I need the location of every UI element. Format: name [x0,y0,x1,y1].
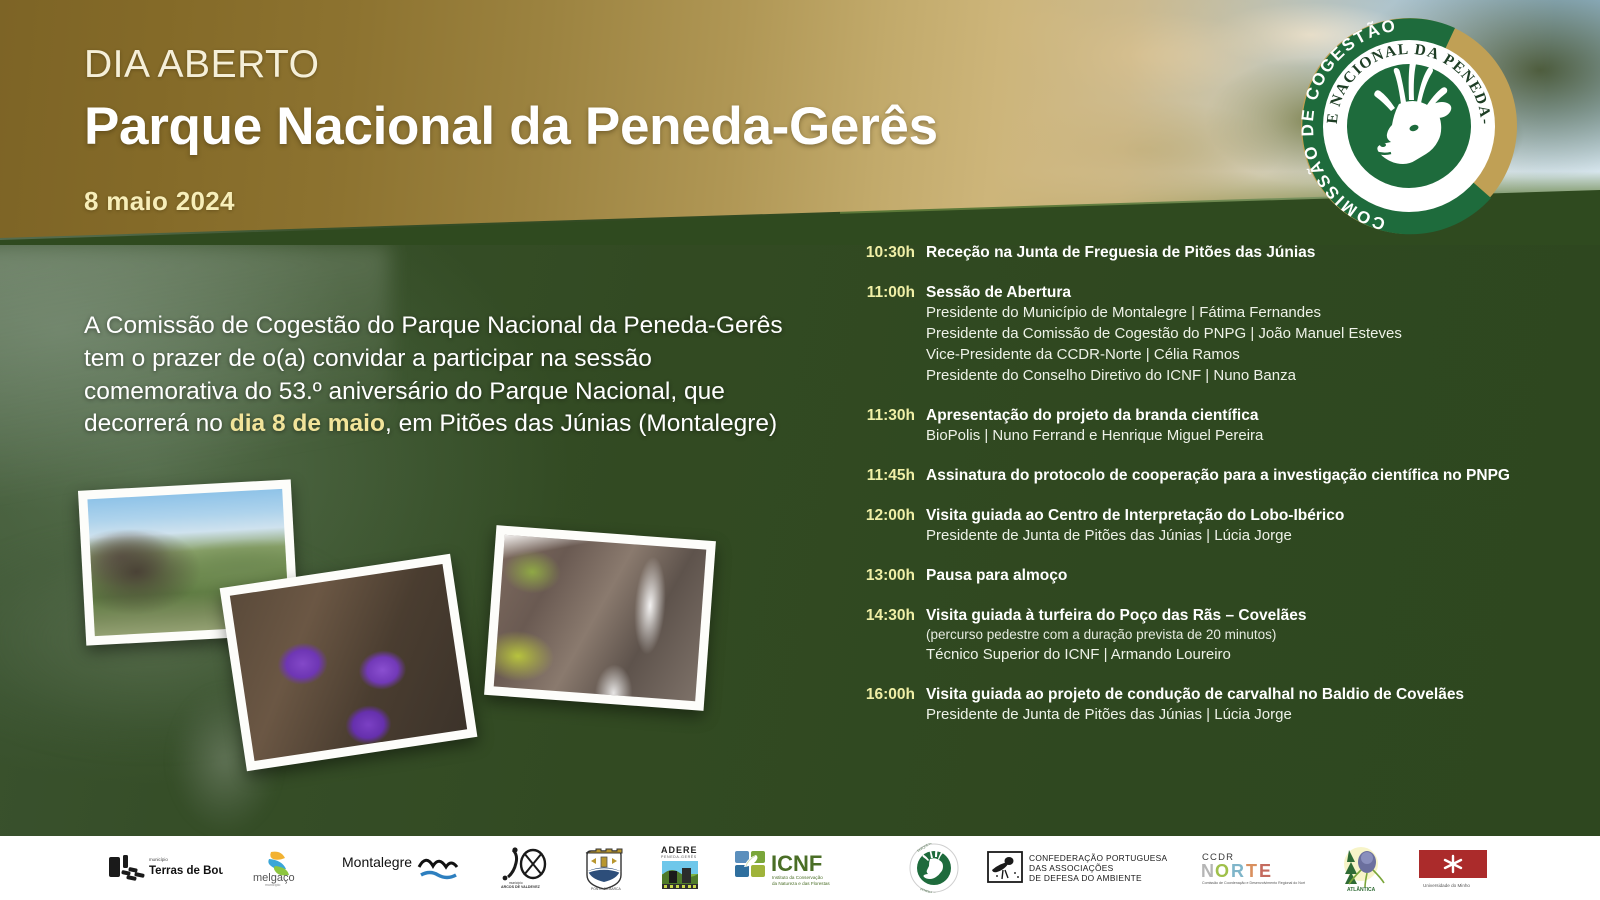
svg-text:Montalegre: Montalegre [342,854,412,870]
svg-text:PONTE DA BARCA: PONTE DA BARCA [591,887,622,891]
schedule-body: Visita guiada ao Centro de Interpretação… [915,506,1344,547]
schedule-time: 11:30h [855,406,915,447]
schedule-time: 16:00h [855,685,915,726]
invitation-paragraph: A Comissão de Cogestão do Parque Naciona… [84,310,784,441]
atlantica-mark: ATLÂNTICA [1331,844,1389,892]
ponte-da-barca-mark: PONTE DA BARCA [579,845,629,891]
logo-icnf: ICNF Instituto da Conservação da Naturez… [733,847,883,889]
poster-canvas: DIA ABERTO Parque Nacional da Peneda-Ger… [0,0,1600,900]
schedule-speaker: BioPolis | Nuno Ferrand e Henrique Migue… [926,426,1263,447]
svg-text:Comissão de Coordenação e Dese: Comissão de Coordenação e Desenvolviment… [1202,881,1305,885]
schedule-speaker: Presidente de Junta de Pitões das Júnias… [926,705,1464,726]
photo-waterfall [484,525,716,711]
svg-text:ATLÂNTICA: ATLÂNTICA [1347,886,1376,892]
svg-text:DAS ASSOCIAÇÕES: DAS ASSOCIAÇÕES [1029,863,1114,873]
schedule-title: Apresentação do projeto da branda cientí… [926,406,1263,427]
svg-text:ARCOS DE VALDEVEZ: ARCOS DE VALDEVEZ [501,885,541,889]
schedule-item: 12:00hVisita guiada ao Centro de Interpr… [855,506,1555,547]
schedule-title: Receção na Junta de Freguesia de Pitões … [926,243,1315,264]
schedule-speaker: Técnico Superior do ICNF | Armando Loure… [926,645,1306,666]
terras-de-bouro-mark: município Terras de Bouro [105,852,223,884]
svg-text:E: E [1259,861,1272,881]
schedule-title: Visita guiada ao projeto de condução de … [926,685,1464,706]
invite-date-highlight: dia 8 de maio [230,410,385,437]
logo-arcos-de-valdevez: município ARCOS DE VALDEVEZ [497,847,553,889]
svg-text:DE DEFESA DO AMBIENTE: DE DEFESA DO AMBIENTE [1029,873,1142,883]
partner-logo-bar: município Terras de Bouro melgaço municí… [0,836,1600,900]
schedule-item: 11:00hSessão de AberturaPresidente do Mu… [855,283,1555,387]
schedule-time: 11:00h [855,283,915,387]
photo-waterfall-image [494,535,707,701]
page-title: Parque Nacional da Peneda-Gerês [84,97,938,156]
svg-text:T: T [1246,861,1258,881]
confederacao-mark: CONFEDERAÇÃO PORTUGUESA DAS ASSOCIAÇÕES … [985,848,1173,888]
header-text-block: DIA ABERTO Parque Nacional da Peneda-Ger… [84,44,938,217]
schedule-title: Assinatura do protocolo de cooperação pa… [926,466,1510,487]
schedule-item: 13:00hPausa para almoço [855,566,1555,587]
schedule-item: 16:00hVisita guiada ao projeto de conduç… [855,685,1555,726]
melgaco-mark: melgaço município [249,849,315,887]
invite-line-3: comemorativa do 53.º aniversário do Parq… [84,376,784,409]
invite-line-4: decorrerá no dia 8 de maio, em Pitões da… [84,408,784,441]
schedule-title: Visita guiada ao Centro de Interpretação… [926,506,1344,527]
logo-adere-peneda-geres: ADERE PENEDA-GERÊS [655,844,707,892]
schedule-item: 10:30hReceção na Junta de Freguesia de P… [855,243,1555,264]
logo-ponte-da-barca: PONTE DA BARCA [579,845,629,891]
schedule-item: 11:45hAssinatura do protocolo de coopera… [855,466,1555,487]
invite-line4-post: , em Pitões das Júnias (Montalegre) [385,410,777,437]
logo-atlantica: ATLÂNTICA [1331,844,1389,892]
event-schedule: 10:30hReceção na Junta de Freguesia de P… [855,243,1555,745]
adere-mark: ADERE PENEDA-GERÊS [655,844,707,892]
svg-text:N: N [1201,861,1215,881]
svg-text:Universidade do Minho: Universidade do Minho [1423,883,1470,888]
schedule-speaker: Presidente do Conselho Diretivo do ICNF … [926,366,1402,387]
schedule-speaker: Presidente de Junta de Pitões das Júnias… [926,526,1344,547]
logo-ccdr-norte: CCDR N O R T E Comissão de Coordenação e… [1199,848,1305,888]
universidade-do-minho-mark: Universidade do Minho [1415,846,1495,890]
svg-text:PENEDA-GERÊS: PENEDA-GERÊS [661,854,697,859]
invite-line4-pre: decorrerá no [84,410,230,437]
logo-terras-de-bouro: município Terras de Bouro [105,852,223,884]
logo-melgaco: melgaço município [249,849,315,887]
schedule-body: Visita guiada à turfeira do Poço das Rãs… [915,606,1306,666]
icnf-mark: ICNF Instituto da Conservação da Naturez… [733,847,883,889]
svg-text:ICNF: ICNF [771,851,822,876]
logo-montalegre: Montalegre [341,851,471,885]
svg-text:município: município [265,883,280,887]
schedule-time: 11:45h [855,466,915,487]
schedule-title: Visita guiada à turfeira do Poço das Rãs… [926,606,1306,627]
schedule-body: Pausa para almoço [915,566,1067,587]
svg-text:O: O [1215,861,1230,881]
invite-line-2: tem o prazer de o(a) convidar a particip… [84,343,784,376]
svg-text:Instituto da Conservação: Instituto da Conservação [772,875,823,880]
schedule-item: 11:30hApresentação do projeto da branda … [855,406,1555,447]
schedule-body: Receção na Junta de Freguesia de Pitões … [915,243,1315,264]
svg-text:município: município [149,857,168,862]
svg-text:da Natureza e das Florestas: da Natureza e das Florestas [772,881,830,886]
ccdr-norte-mark: CCDR N O R T E Comissão de Coordenação e… [1199,848,1305,888]
arcos-de-valdevez-mark: município ARCOS DE VALDEVEZ [497,847,553,889]
seal-svg: COMISSÃO DE COGESTÃO PARQUE NACIONAL DA … [1295,12,1523,240]
schedule-body: Apresentação do projeto da branda cientí… [915,406,1263,447]
schedule-time: 10:30h [855,243,915,264]
schedule-time: 12:00h [855,506,915,547]
schedule-speaker: Presidente do Município de Montalegre | … [926,303,1402,324]
schedule-item: 14:30hVisita guiada à turfeira do Poço d… [855,606,1555,666]
logo-universidade-do-minho: Universidade do Minho [1415,846,1495,890]
montalegre-mark: Montalegre [341,851,471,885]
event-kicker: DIA ABERTO [84,44,938,87]
schedule-body: Visita guiada ao projeto de condução de … [915,685,1464,726]
cogestao-seal-logo: COMISSÃO DE COGESTÃO PARQUE NACIONAL DA … [1295,12,1523,240]
svg-text:Terras de Bouro: Terras de Bouro [149,865,223,877]
schedule-title: Sessão de Abertura [926,283,1402,304]
svg-text:R: R [1231,861,1245,881]
schedule-speaker: Presidente da Comissão de Cogestão do PN… [926,324,1402,345]
deer-nostril [1380,143,1386,147]
photo-flowers-image [230,564,467,761]
schedule-title: Pausa para almoço [926,566,1067,587]
logo-pnpg-seal: PARQUE NACIONAL PENEDA-GERÊS [909,843,959,893]
photo-collage [0,455,780,785]
schedule-body: Sessão de AberturaPresidente do Municípi… [915,283,1402,387]
schedule-body: Assinatura do protocolo de cooperação pa… [915,466,1510,487]
svg-text:CONFEDERAÇÃO PORTUGUESA: CONFEDERAÇÃO PORTUGUESA [1029,853,1168,863]
schedule-time: 14:30h [855,606,915,666]
svg-text:ADERE: ADERE [661,845,698,855]
event-date: 8 maio 2024 [84,186,938,217]
schedule-speaker: Vice-Presidente da CCDR-Norte | Célia Ra… [926,345,1402,366]
pnpg-seal-mark: PARQUE NACIONAL PENEDA-GERÊS [909,843,959,893]
photo-purple-bellflowers [220,554,478,771]
invite-line-1: A Comissão de Cogestão do Parque Naciona… [84,310,784,343]
logo-confederacao-defesa-ambiente: CONFEDERAÇÃO PORTUGUESA DAS ASSOCIAÇÕES … [985,848,1173,888]
schedule-note: (percurso pedestre com a duração previst… [926,626,1306,645]
schedule-time: 13:00h [855,566,915,587]
